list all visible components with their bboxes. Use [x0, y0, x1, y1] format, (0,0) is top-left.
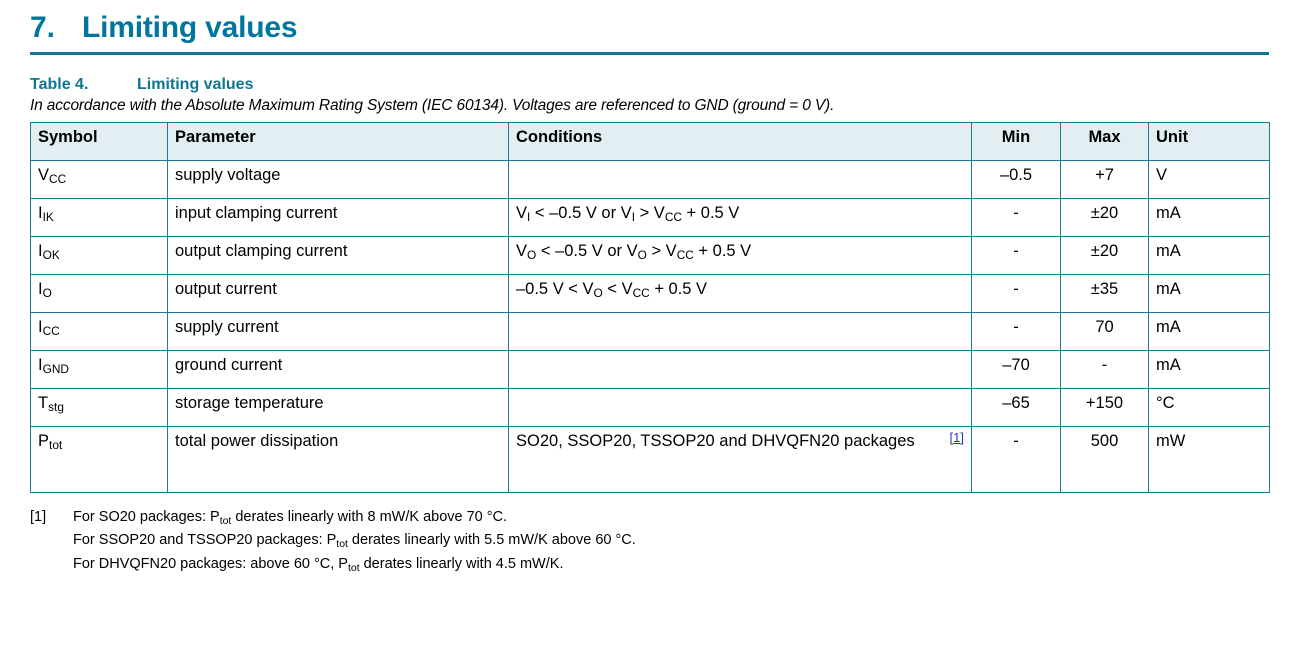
- cell-conditions: [509, 351, 972, 389]
- cell-symbol: IGND: [31, 351, 168, 389]
- section-divider: [30, 52, 1269, 55]
- section-number: 7.: [30, 11, 82, 45]
- footnote-reference-link[interactable]: [1]: [950, 431, 964, 445]
- cell-unit: mA: [1149, 313, 1270, 351]
- cell-parameter: supply current: [168, 313, 509, 351]
- table-row: IIKinput clamping currentVI < –0.5 V or …: [31, 199, 1270, 237]
- footnote-lines: For SO20 packages: Ptot derates linearly…: [73, 506, 1269, 576]
- cell-parameter: total power dissipation: [168, 427, 509, 493]
- cell-max: +7: [1061, 161, 1149, 199]
- cell-unit: V: [1149, 161, 1270, 199]
- cell-max: ±35: [1061, 275, 1149, 313]
- cell-conditions: VO < –0.5 V or VO > VCC + 0.5 V: [509, 237, 972, 275]
- table-caption: Table 4. Limiting values: [30, 76, 1269, 94]
- cell-max: 70: [1061, 313, 1149, 351]
- table-row: Tstgstorage temperature–65+150°C: [31, 389, 1270, 427]
- cell-parameter: output clamping current: [168, 237, 509, 275]
- footnote-marker: [1]: [30, 506, 73, 576]
- cell-unit: mW: [1149, 427, 1270, 493]
- cell-max: ±20: [1061, 237, 1149, 275]
- table-row: VCCsupply voltage–0.5+7V: [31, 161, 1270, 199]
- cell-conditions: [509, 389, 972, 427]
- limiting-values-table: Symbol Parameter Conditions Min Max Unit…: [30, 122, 1270, 493]
- table-header-row: Symbol Parameter Conditions Min Max Unit: [31, 123, 1270, 161]
- column-header-conditions: Conditions: [509, 123, 972, 161]
- footnote-entry: [1]For SO20 packages: Ptot derates linea…: [30, 506, 1269, 576]
- cell-symbol: VCC: [31, 161, 168, 199]
- cell-min: -: [972, 275, 1061, 313]
- cell-unit: mA: [1149, 351, 1270, 389]
- conditions-text: SO20, SSOP20, TSSOP20 and DHVQFN20 packa…: [516, 431, 915, 452]
- cell-unit: mA: [1149, 199, 1270, 237]
- conditions-text: VI < –0.5 V or VI > VCC + 0.5 V: [516, 203, 739, 224]
- cell-symbol: IOK: [31, 237, 168, 275]
- table-row: ICCsupply current-70mA: [31, 313, 1270, 351]
- cell-min: –70: [972, 351, 1061, 389]
- cell-symbol: Ptot: [31, 427, 168, 493]
- cell-max: 500: [1061, 427, 1149, 493]
- cell-conditions: [509, 161, 972, 199]
- cell-min: -: [972, 313, 1061, 351]
- conditions-text: –0.5 V < VO < VCC + 0.5 V: [516, 279, 707, 300]
- cell-min: -: [972, 237, 1061, 275]
- cell-symbol: ICC: [31, 313, 168, 351]
- table-subtitle: In accordance with the Absolute Maximum …: [30, 97, 1269, 115]
- cell-min: –65: [972, 389, 1061, 427]
- cell-unit: mA: [1149, 275, 1270, 313]
- column-header-unit: Unit: [1149, 123, 1270, 161]
- section-heading: 7. Limiting values: [30, 0, 1269, 45]
- cell-symbol: IIK: [31, 199, 168, 237]
- cell-min: -: [972, 199, 1061, 237]
- section-title: Limiting values: [82, 11, 297, 45]
- column-header-max: Max: [1061, 123, 1149, 161]
- column-header-symbol: Symbol: [31, 123, 168, 161]
- cell-conditions: VI < –0.5 V or VI > VCC + 0.5 V: [509, 199, 972, 237]
- cell-parameter: output current: [168, 275, 509, 313]
- footnotes: [1]For SO20 packages: Ptot derates linea…: [30, 506, 1269, 576]
- footnote-line: For DHVQFN20 packages: above 60 °C, Ptot…: [73, 553, 1269, 576]
- cell-min: –0.5: [972, 161, 1061, 199]
- cell-min: -: [972, 427, 1061, 493]
- cell-max: ±20: [1061, 199, 1149, 237]
- cell-parameter: storage temperature: [168, 389, 509, 427]
- cell-parameter: input clamping current: [168, 199, 509, 237]
- column-header-min: Min: [972, 123, 1061, 161]
- conditions-text: VO < –0.5 V or VO > VCC + 0.5 V: [516, 241, 751, 262]
- table-caption-label: Table 4.: [30, 76, 137, 94]
- cell-conditions: –0.5 V < VO < VCC + 0.5 V: [509, 275, 972, 313]
- cell-conditions: SO20, SSOP20, TSSOP20 and DHVQFN20 packa…: [509, 427, 972, 493]
- column-header-parameter: Parameter: [168, 123, 509, 161]
- table-row: Ptottotal power dissipationSO20, SSOP20,…: [31, 427, 1270, 493]
- table-caption-title: Limiting values: [137, 76, 253, 94]
- cell-conditions: [509, 313, 972, 351]
- cell-max: -: [1061, 351, 1149, 389]
- table-row: IGNDground current–70-mA: [31, 351, 1270, 389]
- cell-symbol: IO: [31, 275, 168, 313]
- table-row: IOKoutput clamping currentVO < –0.5 V or…: [31, 237, 1270, 275]
- cell-parameter: ground current: [168, 351, 509, 389]
- table-body: VCCsupply voltage–0.5+7VIIKinput clampin…: [31, 161, 1270, 493]
- datasheet-page: 7. Limiting values Table 4. Limiting val…: [0, 0, 1299, 649]
- cell-unit: mA: [1149, 237, 1270, 275]
- footnote-line: For SO20 packages: Ptot derates linearly…: [73, 506, 1269, 529]
- table-row: IOoutput current–0.5 V < VO < VCC + 0.5 …: [31, 275, 1270, 313]
- footnote-line: For SSOP20 and TSSOP20 packages: Ptot de…: [73, 529, 1269, 552]
- cell-unit: °C: [1149, 389, 1270, 427]
- cell-parameter: supply voltage: [168, 161, 509, 199]
- cell-max: +150: [1061, 389, 1149, 427]
- cell-symbol: Tstg: [31, 389, 168, 427]
